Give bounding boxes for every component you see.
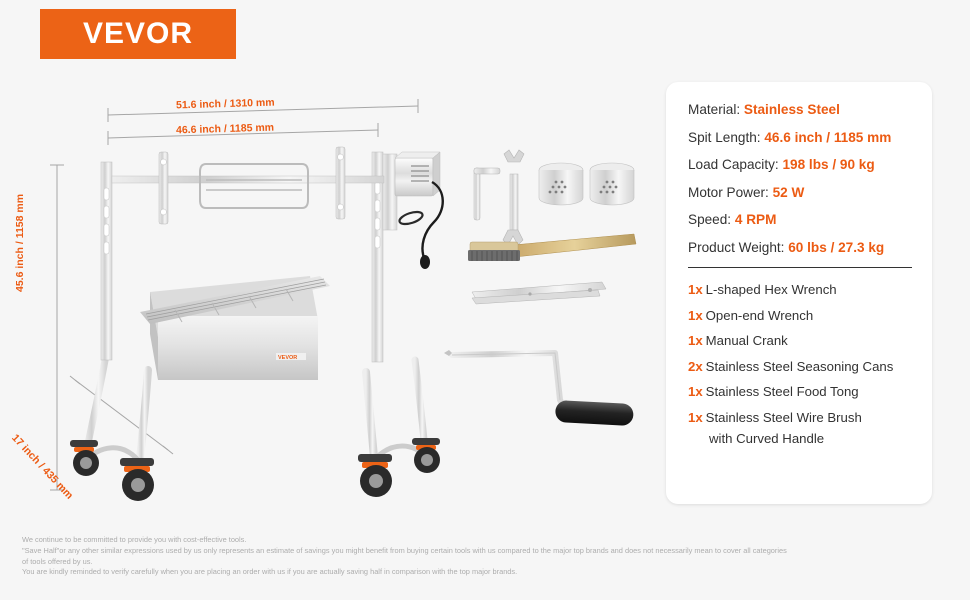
spec-row-motor-power: Motor Power: 52 W — [688, 185, 912, 200]
spec-label: Material: — [688, 102, 740, 117]
footer-line-2: "Save Half"or any other similar expressi… — [22, 546, 952, 557]
wire-brush-accessory — [468, 234, 636, 261]
part-name: Stainless Steel Food Tong — [706, 384, 859, 399]
part-qty: 1x — [688, 333, 703, 348]
footer-line-1: We continue to be committed to provide y… — [22, 535, 952, 546]
spec-value: 4 RPM — [735, 212, 777, 227]
seasoning-can-accessory — [539, 163, 583, 205]
vevor-logo: VEVOR — [40, 9, 236, 59]
product-body-logo: VEVOR — [276, 353, 306, 361]
spec-value: Stainless Steel — [744, 102, 840, 117]
part-row-wire-brush: 1xStainless Steel Wire Brush — [688, 410, 912, 425]
spec-row-spit-length: Spit Length: 46.6 inch / 1185 mm — [688, 130, 912, 145]
part-row-manual-crank: 1xManual Crank — [688, 333, 912, 348]
spec-value: 60 lbs / 27.3 kg — [788, 240, 884, 255]
svg-text:VEVOR: VEVOR — [278, 355, 297, 361]
part-name: Stainless Steel Wire Brush — [706, 410, 862, 425]
spec-row-product-weight: Product Weight: 60 lbs / 27.3 kg — [688, 240, 912, 255]
footer-line-4: You are kindly reminded to verify carefu… — [22, 567, 952, 578]
part-qty: 1x — [688, 308, 703, 323]
part-row-hex-wrench: 1xL-shaped Hex Wrench — [688, 282, 912, 297]
part-name: Open-end Wrench — [706, 308, 814, 323]
dimension-label-height: 45.6 inch / 1158 mm — [14, 194, 26, 292]
product-svg: VEVOR — [0, 70, 660, 520]
part-row-wire-brush-continuation: with Curved Handle — [709, 431, 912, 446]
part-qty: 2x — [688, 359, 703, 374]
food-tong-accessory — [472, 282, 606, 304]
product-illustration: VEVOR — [0, 70, 660, 520]
motor-housing — [395, 152, 440, 196]
part-qty: 1x — [688, 282, 703, 297]
part-name: Stainless Steel Seasoning Cans — [706, 359, 894, 374]
spec-row-speed: Speed: 4 RPM — [688, 212, 912, 227]
spec-label: Speed: — [688, 212, 731, 227]
infographic-page: VEVOR — [0, 0, 970, 600]
spec-label: Product Weight: — [688, 240, 784, 255]
spec-label: Motor Power: — [688, 185, 769, 200]
part-row-open-end-wrench: 1xOpen-end Wrench — [688, 308, 912, 323]
part-qty: 1x — [688, 384, 703, 399]
caster-wheels — [70, 438, 440, 501]
manual-crank-accessory — [444, 350, 634, 426]
spec-label: Spit Length: — [688, 130, 761, 145]
footer-disclaimer: We continue to be committed to provide y… — [22, 535, 952, 578]
rotisserie-basket — [200, 164, 308, 208]
spec-value: 198 lbs / 90 kg — [782, 157, 874, 172]
open-end-wrench-accessory — [503, 150, 524, 245]
spec-value: 52 W — [773, 185, 805, 200]
part-qty: 1x — [688, 410, 703, 425]
vevor-logo-text: VEVOR — [83, 17, 193, 51]
spit-forks — [159, 147, 345, 224]
spec-label: Load Capacity: — [688, 157, 779, 172]
card-divider — [688, 267, 912, 268]
specification-card: Material: Stainless Steel Spit Length: 4… — [666, 82, 932, 504]
footer-line-3: of tools offered by us. — [22, 557, 952, 568]
seasoning-can-accessory — [590, 163, 634, 205]
hex-wrench-accessory — [474, 168, 500, 220]
part-row-seasoning-cans: 2xStainless Steel Seasoning Cans — [688, 359, 912, 374]
part-row-food-tong: 1xStainless Steel Food Tong — [688, 384, 912, 399]
spec-row-load-capacity: Load Capacity: 198 lbs / 90 kg — [688, 157, 912, 172]
spec-row-material: Material: Stainless Steel — [688, 102, 912, 117]
part-name: L-shaped Hex Wrench — [706, 282, 837, 297]
spec-value: 46.6 inch / 1185 mm — [764, 130, 891, 145]
part-name: Manual Crank — [706, 333, 788, 348]
